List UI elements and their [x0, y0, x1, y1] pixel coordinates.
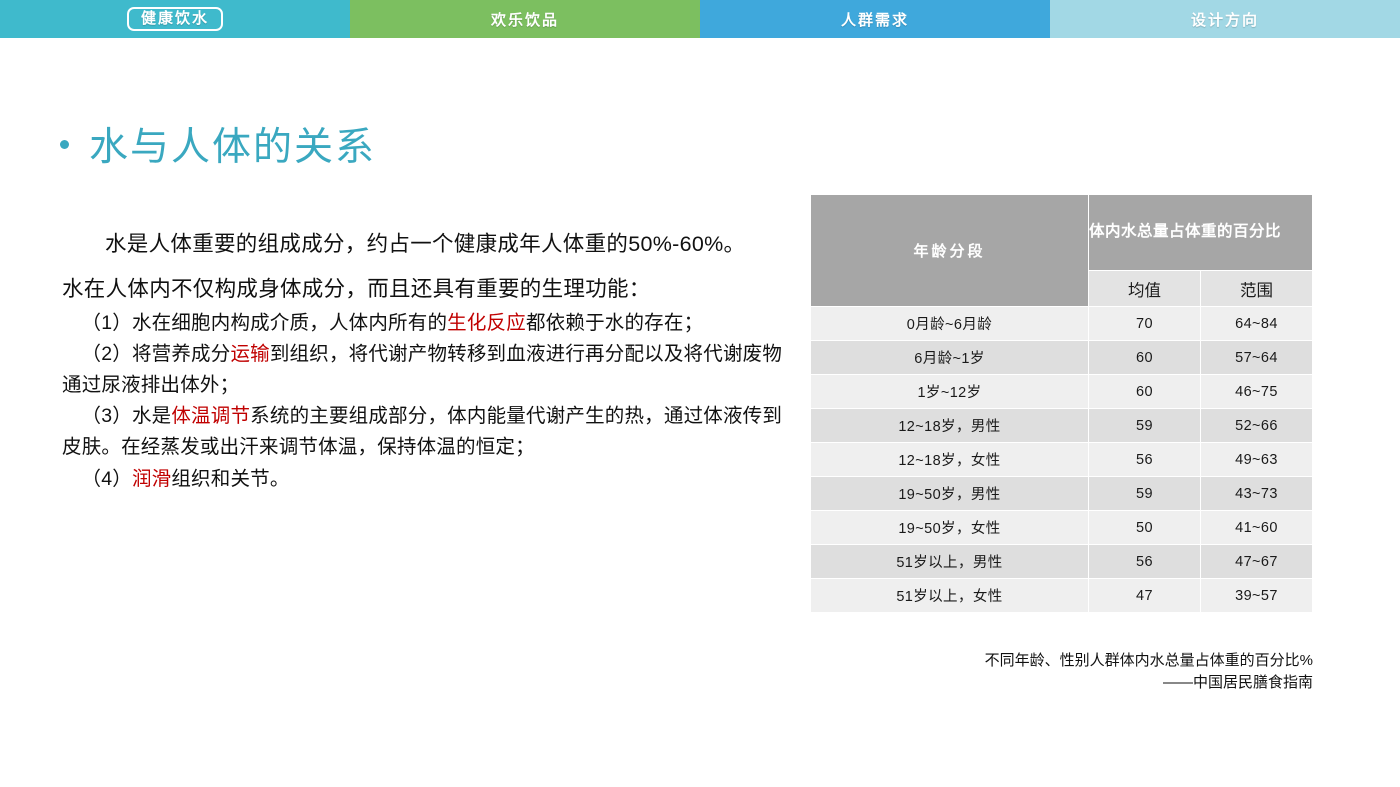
- table-row: 0月龄~6月龄 70 64~84: [811, 307, 1313, 341]
- body-text-column: 水是人体重要的组成成分，约占一个健康成年人体重的50%-60%。 水在人体内不仅…: [62, 228, 792, 495]
- page-title-text: 水与人体的关系: [89, 128, 376, 167]
- list-item-prefix: （4）: [82, 468, 132, 490]
- cell-age: 12~18岁，女性: [811, 443, 1089, 477]
- table-body: 0月龄~6月龄 70 64~84 6月龄~1岁 60 57~64 1岁~12岁 …: [811, 307, 1313, 613]
- table-row: 12~18岁，男性 59 52~66: [811, 409, 1313, 443]
- nav-tab-happy-beverage[interactable]: 欢乐饮品: [350, 0, 700, 38]
- bullet-icon: [60, 140, 69, 149]
- nav-tab-label: 设计方向: [1191, 9, 1259, 30]
- cell-age: 51岁以上，男性: [811, 545, 1089, 579]
- list-item-suffix: 组织和关节。: [171, 468, 289, 490]
- cell-mean: 70: [1089, 307, 1201, 341]
- cell-mean: 60: [1089, 375, 1201, 409]
- nav-tab-label: 欢乐饮品: [491, 9, 559, 30]
- cell-range: 39~57: [1201, 579, 1313, 613]
- list-item-prefix: （2）将营养成分: [82, 343, 231, 365]
- cell-mean: 59: [1089, 477, 1201, 511]
- table-header-age: 年龄分段: [811, 195, 1089, 307]
- lead-paragraph: 水是人体重要的组成成分，约占一个健康成年人体重的50%-60%。: [62, 228, 792, 261]
- list-item: （1）水在细胞内构成介质，人体内所有的生化反应都依赖于水的存在；: [62, 308, 792, 339]
- table-row: 6月龄~1岁 60 57~64: [811, 341, 1313, 375]
- cell-mean: 47: [1089, 579, 1201, 613]
- list-item: （4）润滑组织和关节。: [62, 464, 792, 495]
- cell-range: 49~63: [1201, 443, 1313, 477]
- table-header-row: 年龄分段 体内水总量占体重的百分比: [811, 195, 1313, 271]
- table-row: 1岁~12岁 60 46~75: [811, 375, 1313, 409]
- table-caption-line2: ——中国居民膳食指南: [810, 672, 1313, 694]
- nav-tab-label: 人群需求: [841, 9, 909, 30]
- table-row: 51岁以上，女性 47 39~57: [811, 579, 1313, 613]
- table-row: 19~50岁，男性 59 43~73: [811, 477, 1313, 511]
- table-row: 12~18岁，女性 56 49~63: [811, 443, 1313, 477]
- nav-tab-health-drinking[interactable]: 健康饮水: [0, 0, 350, 38]
- list-item: （2）将营养成分运输到组织，将代谢产物转移到血液进行再分配以及将代谢废物通过尿液…: [62, 339, 792, 401]
- top-navigation-bar: 健康饮水 欢乐饮品 人群需求 设计方向: [0, 0, 1400, 38]
- cell-range: 47~67: [1201, 545, 1313, 579]
- section-intro: 水在人体内不仅构成身体成分，而且还具有重要的生理功能：: [62, 273, 792, 305]
- table-header-mean: 均值: [1089, 271, 1201, 307]
- page-title: 水与人体的关系: [60, 128, 376, 167]
- cell-age: 6月龄~1岁: [811, 341, 1089, 375]
- nav-tab-active-label: 健康饮水: [127, 7, 223, 31]
- cell-mean: 50: [1089, 511, 1201, 545]
- cell-mean: 60: [1089, 341, 1201, 375]
- table-row: 51岁以上，男性 56 47~67: [811, 545, 1313, 579]
- table-header-group: 体内水总量占体重的百分比: [1089, 195, 1313, 271]
- list-item-prefix: （1）水在细胞内构成介质，人体内所有的: [82, 312, 448, 334]
- cell-age: 51岁以上，女性: [811, 579, 1089, 613]
- table-caption-line1: 不同年龄、性别人群体内水总量占体重的百分比%: [810, 650, 1313, 672]
- cell-mean: 56: [1089, 443, 1201, 477]
- cell-mean: 59: [1089, 409, 1201, 443]
- cell-range: 52~66: [1201, 409, 1313, 443]
- table-header-range: 范围: [1201, 271, 1313, 307]
- cell-range: 41~60: [1201, 511, 1313, 545]
- nav-tab-crowd-demand[interactable]: 人群需求: [700, 0, 1050, 38]
- list-item-highlight: 生化反应: [447, 312, 526, 334]
- cell-age: 1岁~12岁: [811, 375, 1089, 409]
- list-item-highlight: 体温调节: [171, 405, 250, 427]
- cell-range: 43~73: [1201, 477, 1313, 511]
- cell-age: 19~50岁，男性: [811, 477, 1089, 511]
- cell-age: 0月龄~6月龄: [811, 307, 1089, 341]
- list-item: （3）水是体温调节系统的主要组成部分，体内能量代谢产生的热，通过体液传到皮肤。在…: [62, 401, 792, 463]
- list-item-prefix: （3）水是: [82, 405, 172, 427]
- list-item-suffix: 都依赖于水的存在；: [526, 312, 703, 334]
- cell-range: 64~84: [1201, 307, 1313, 341]
- cell-range: 46~75: [1201, 375, 1313, 409]
- cell-age: 19~50岁，女性: [811, 511, 1089, 545]
- table-row: 19~50岁，女性 50 41~60: [811, 511, 1313, 545]
- nav-tab-design-direction[interactable]: 设计方向: [1050, 0, 1400, 38]
- list-item-highlight: 润滑: [132, 468, 171, 490]
- table-caption: 不同年龄、性别人群体内水总量占体重的百分比% ——中国居民膳食指南: [810, 650, 1313, 694]
- list-item-highlight: 运输: [230, 343, 269, 365]
- cell-age: 12~18岁，男性: [811, 409, 1089, 443]
- water-percentage-table: 年龄分段 体内水总量占体重的百分比 均值 范围 0月龄~6月龄 70 64~84…: [810, 194, 1313, 613]
- cell-mean: 56: [1089, 545, 1201, 579]
- cell-range: 57~64: [1201, 341, 1313, 375]
